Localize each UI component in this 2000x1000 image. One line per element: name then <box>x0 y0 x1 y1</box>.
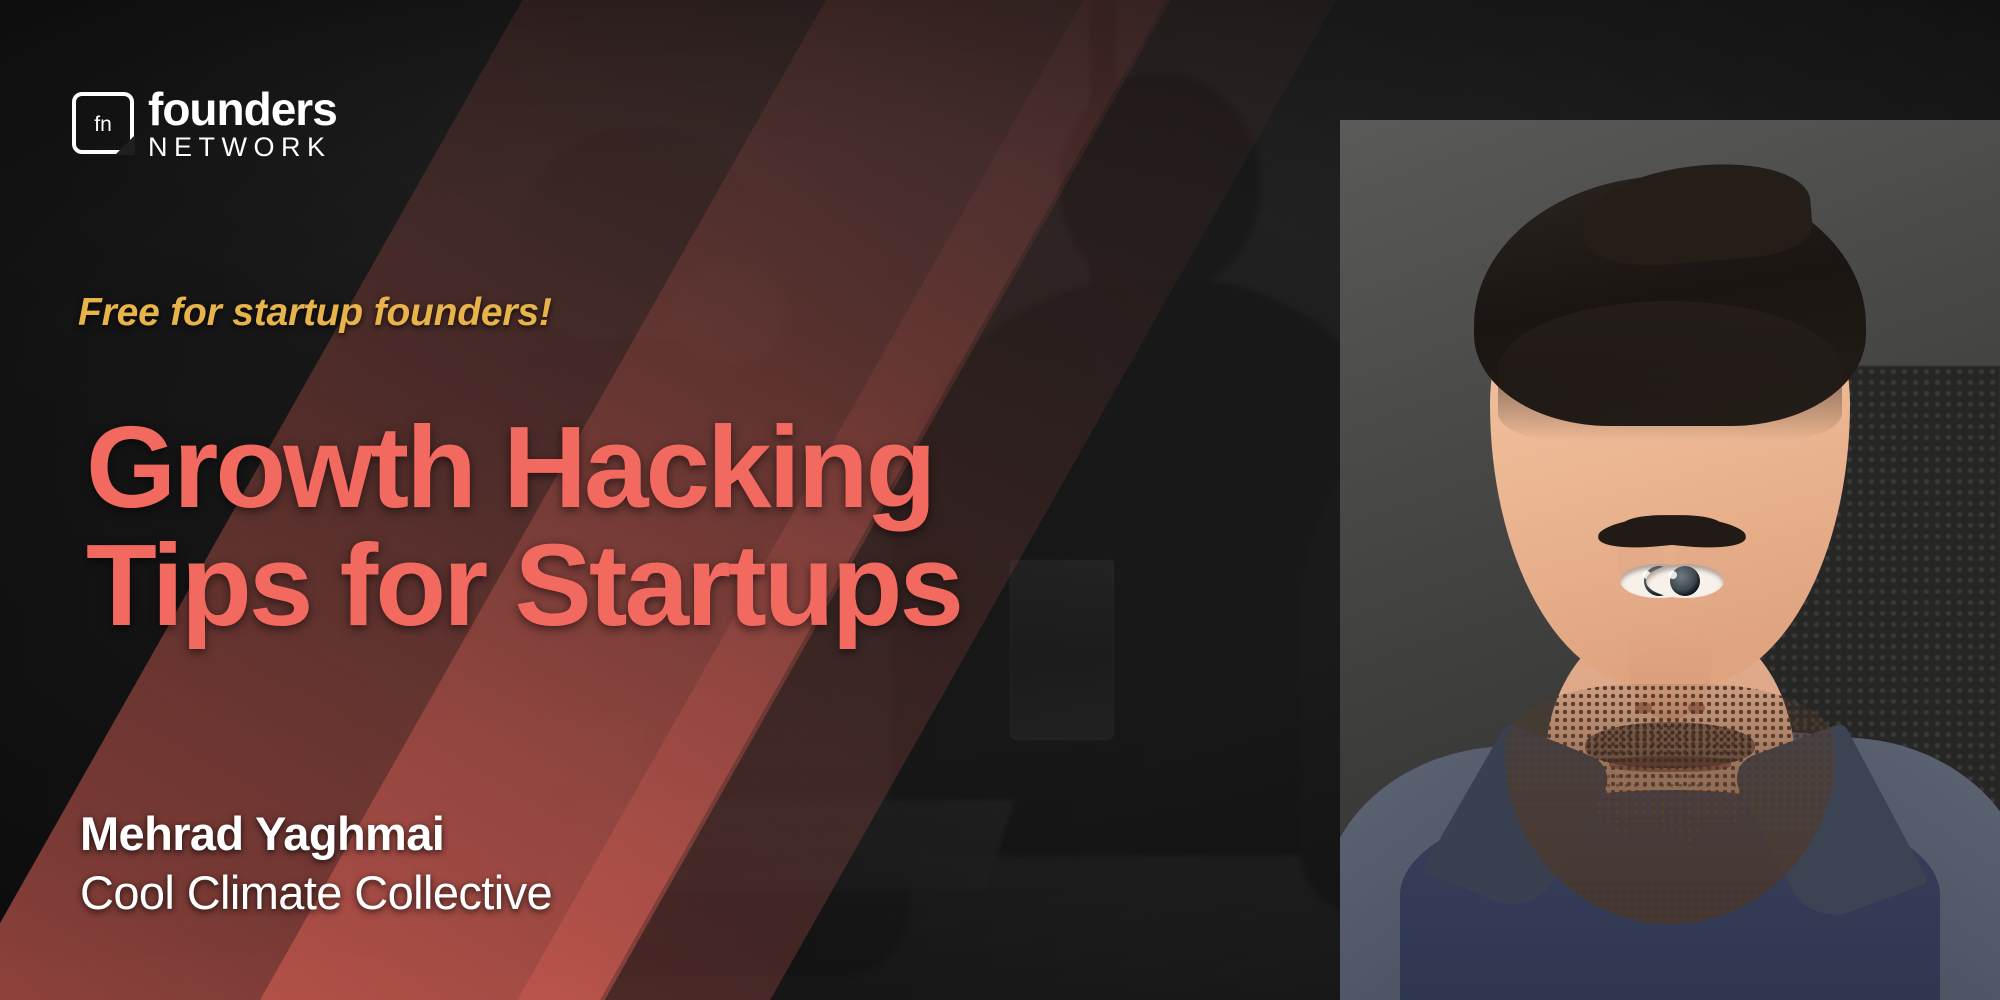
event-title-line-1: Growth Hacking <box>86 408 961 526</box>
event-title: Growth Hacking Tips for Startups <box>86 408 961 645</box>
speaker-portrait <box>1340 120 2000 1000</box>
logo-word-network: NETWORK <box>148 133 337 161</box>
fn-logo-mark-text: fn <box>76 114 130 135</box>
fn-logo-mark-fold <box>115 135 135 155</box>
tagline: Free for startup founders! <box>78 291 552 335</box>
fn-logo-mark-icon: fn <box>72 92 134 154</box>
founders-network-logo: fn founders NETWORK <box>72 92 337 162</box>
speaker-organization: Cool Climate Collective <box>80 865 552 920</box>
banner-content: fn founders NETWORK Free for startup fou… <box>0 0 1200 1000</box>
portrait-mustache <box>1585 722 1755 768</box>
logo-wordmark: founders NETWORK <box>148 88 337 162</box>
speaker-credit: Mehrad Yaghmai Cool Climate Collective <box>80 806 552 920</box>
logo-word-founders: founders <box>148 88 337 131</box>
event-title-line-2: Tips for Startups <box>86 526 961 644</box>
speaker-name: Mehrad Yaghmai <box>80 806 552 861</box>
portrait-eye-right <box>1646 564 1724 598</box>
event-banner: fn founders NETWORK Free for startup fou… <box>0 0 2000 1000</box>
